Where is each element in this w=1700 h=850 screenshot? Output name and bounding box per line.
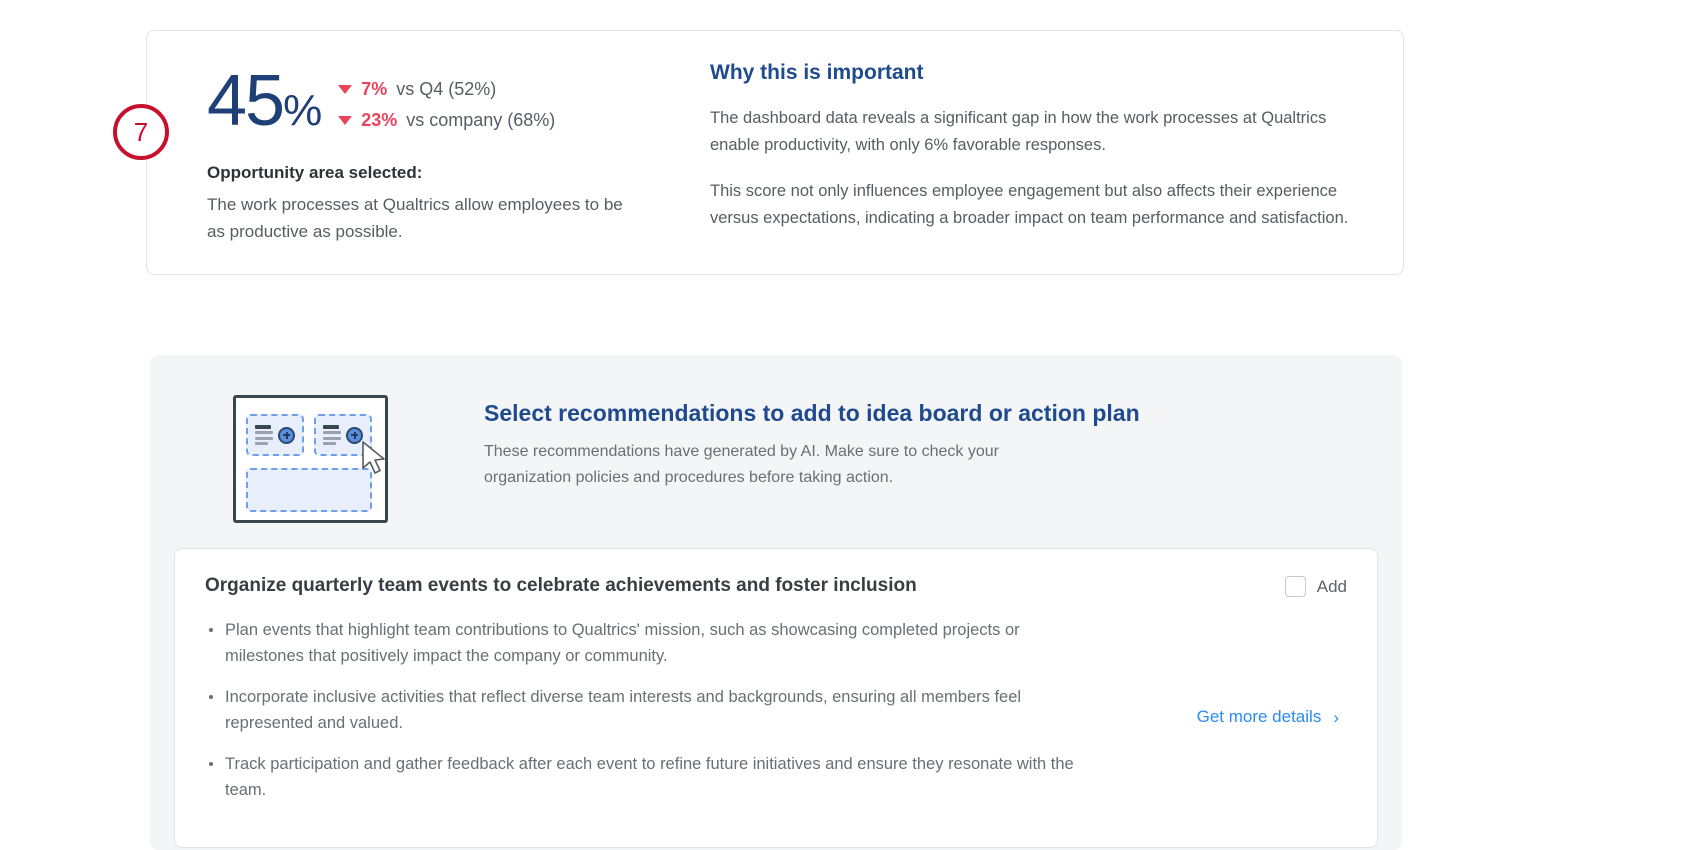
summary-left-column: 45% 7% vs Q4 (52%) 23% vs company (68%) …	[207, 67, 687, 245]
delta-row: 7% vs Q4 (52%)	[338, 79, 555, 100]
illustration-mini-card	[246, 414, 304, 456]
delta-text: vs Q4 (52%)	[396, 79, 496, 100]
triangle-down-icon	[338, 85, 352, 94]
recommendations-header: Select recommendations to add to idea bo…	[150, 385, 1402, 555]
get-more-details-label: Get more details	[1197, 707, 1322, 727]
primary-score: 45%	[207, 67, 320, 135]
cursor-arrow-icon	[361, 441, 387, 475]
get-more-details-link[interactable]: Get more details ›	[1197, 707, 1339, 727]
why-paragraph: The dashboard data reveals a significant…	[710, 105, 1350, 158]
triangle-down-icon	[338, 116, 352, 125]
list-item: Incorporate inclusive activities that re…	[205, 684, 1085, 737]
recommendation-card: Organize quarterly team events to celebr…	[174, 548, 1378, 848]
delta-list: 7% vs Q4 (52%) 23% vs company (68%)	[338, 67, 555, 131]
details-link-wrapper: Get more details ›	[1109, 617, 1347, 817]
add-checkbox[interactable]	[1285, 576, 1306, 597]
recommendation-card-header: Organize quarterly team events to celebr…	[205, 575, 1347, 597]
plus-circle-icon	[278, 427, 295, 444]
recommendations-header-text: Select recommendations to add to idea bo…	[484, 400, 1244, 490]
delta-text: vs company (68%)	[406, 110, 555, 131]
why-paragraph: This score not only influences employee …	[710, 178, 1350, 231]
recommendation-bullet-list: Plan events that highlight team contribu…	[205, 617, 1085, 817]
recommendations-panel: Select recommendations to add to idea bo…	[150, 355, 1402, 850]
add-recommendation-control[interactable]: Add	[1285, 576, 1347, 597]
opportunity-area-label: Opportunity area selected:	[207, 163, 687, 183]
summary-card: 45% 7% vs Q4 (52%) 23% vs company (68%) …	[146, 30, 1404, 275]
add-label: Add	[1317, 577, 1347, 597]
summary-right-column: Why this is important The dashboard data…	[710, 61, 1350, 232]
delta-value: 7%	[361, 79, 387, 100]
delta-value: 23%	[361, 110, 397, 131]
score-value: 45	[207, 61, 283, 141]
recommendations-title: Select recommendations to add to idea bo…	[484, 400, 1244, 427]
recommendation-card-body: Plan events that highlight team contribu…	[205, 617, 1347, 817]
list-item: Track participation and gather feedback …	[205, 751, 1085, 804]
why-this-is-important-heading: Why this is important	[710, 61, 1350, 85]
recommendations-subtitle: These recommendations have generated by …	[484, 439, 1084, 490]
delta-row: 23% vs company (68%)	[338, 110, 555, 131]
score-unit: %	[283, 86, 320, 135]
opportunity-area-text: The work processes at Qualtrics allow em…	[207, 192, 627, 245]
score-row: 45% 7% vs Q4 (52%) 23% vs company (68%)	[207, 67, 687, 135]
select-recommendations-illustration	[233, 395, 393, 530]
illustration-drop-zone	[246, 468, 372, 512]
recommendation-title: Organize quarterly team events to celebr…	[205, 575, 917, 597]
list-lines-icon	[323, 425, 341, 446]
step-number-badge: 7	[113, 104, 169, 160]
chevron-right-icon: ›	[1333, 709, 1339, 726]
list-item: Plan events that highlight team contribu…	[205, 617, 1085, 670]
list-lines-icon	[255, 425, 273, 446]
